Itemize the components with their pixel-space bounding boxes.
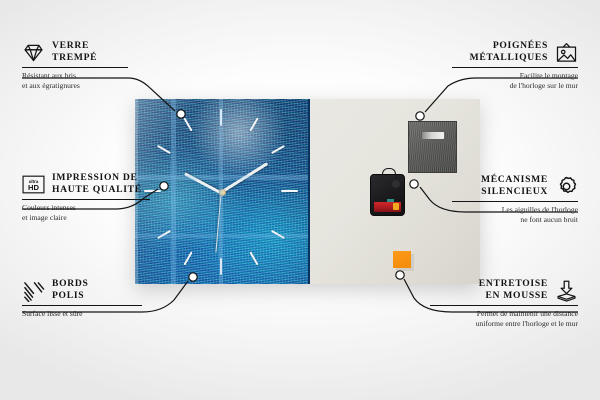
callout-header: ultra HD IMPRESSION DE HAUTE QUALITÉ: [22, 172, 150, 196]
callout-subtitle: Permet de maintenir une distance uniform…: [430, 309, 578, 329]
ultra-hd-icon: ultra HD: [22, 173, 45, 196]
hour-tick-5: [249, 252, 258, 266]
callout-header: BORDS POLIS: [22, 278, 142, 302]
hour-tick-6: [220, 258, 222, 275]
clock-front-face: [135, 99, 310, 284]
center-pin: [219, 189, 226, 196]
callout-header: MÉCANISME SILENCIEUX: [452, 174, 578, 198]
hour-tick-2: [271, 145, 285, 154]
hour-tick-1: [249, 118, 258, 132]
picture-frame-hanger-icon: [555, 41, 578, 64]
callout-rule: [22, 305, 142, 306]
callout-title: POIGNÉES MÉTALLIQUES: [470, 40, 548, 64]
callout-header: POIGNÉES MÉTALLIQUES: [452, 40, 578, 64]
foam-spacer: [393, 251, 411, 268]
diamond-icon: [22, 41, 45, 64]
polished-edges-icon: [22, 279, 45, 302]
hour-tick-7: [183, 252, 192, 266]
hour-tick-12: [220, 109, 222, 126]
callout-mecanisme-silencieux[interactable]: MÉCANISME SILENCIEUX Les aiguilles de l'…: [452, 174, 578, 225]
callout-title: ENTRETOISE EN MOUSSE: [479, 278, 548, 302]
callout-title: BORDS POLIS: [52, 278, 89, 302]
hour-tick-11: [183, 118, 192, 132]
callout-rule: [430, 305, 578, 306]
callout-entretoise-en-mousse[interactable]: ENTRETOISE EN MOUSSE Permet de maintenir…: [430, 278, 578, 329]
callout-bords-polis[interactable]: BORDS POLIS Surface lisse et sûre: [22, 278, 142, 319]
callout-header: ENTRETOISE EN MOUSSE: [430, 278, 578, 302]
hanger-slot: [422, 132, 444, 139]
battery-terminal: [393, 203, 399, 210]
metal-hanger-plate: [408, 121, 457, 173]
clock-mechanism: [370, 174, 405, 216]
callout-subtitle: Surface lisse et sûre: [22, 309, 142, 319]
battery: [374, 202, 401, 212]
infographic-stage: VERRE TREMPÉ Résistant aux bris et aux é…: [0, 0, 600, 400]
callout-rule: [452, 201, 578, 202]
callout-verre-trempe[interactable]: VERRE TREMPÉ Résistant aux bris et aux é…: [22, 40, 128, 91]
hour-tick-8: [157, 230, 171, 239]
callout-subtitle: Couleurs intenses et image claire: [22, 203, 150, 223]
hour-tick-3: [281, 190, 298, 192]
callout-rule: [452, 67, 578, 68]
callout-rule: [22, 199, 150, 200]
callout-poignees-metalliques[interactable]: POIGNÉES MÉTALLIQUES Facilite le montage…: [452, 40, 578, 91]
arrow-down-pad-icon: [555, 279, 578, 302]
hour-hand: [184, 172, 222, 194]
mechanism-dial: [392, 180, 400, 188]
callout-subtitle: Les aiguilles de l'horloge ne font aucun…: [452, 205, 578, 225]
callout-header: VERRE TREMPÉ: [22, 40, 128, 64]
callout-rule: [22, 67, 128, 68]
callout-title: VERRE TREMPÉ: [52, 40, 97, 64]
callout-subtitle: Facilite le montage de l'horloge sur le …: [452, 71, 578, 91]
second-hand: [215, 192, 222, 252]
callout-title: MÉCANISME SILENCIEUX: [481, 174, 548, 198]
callout-title: IMPRESSION DE HAUTE QUALITÉ: [52, 172, 142, 196]
svg-text:HD: HD: [28, 183, 39, 192]
callout-subtitle: Résistant aux bris et aux égratignures: [22, 71, 128, 91]
minute-hand: [220, 162, 268, 194]
hour-tick-4: [271, 230, 285, 239]
gear-icon: [555, 175, 578, 198]
glass-glare: [135, 99, 308, 284]
callout-impression-haute-qualite[interactable]: ultra HD IMPRESSION DE HAUTE QUALITÉ Cou…: [22, 172, 150, 223]
mechanism-hanger-loop: [382, 168, 396, 178]
product-image: [135, 99, 480, 284]
hour-tick-10: [157, 145, 171, 154]
